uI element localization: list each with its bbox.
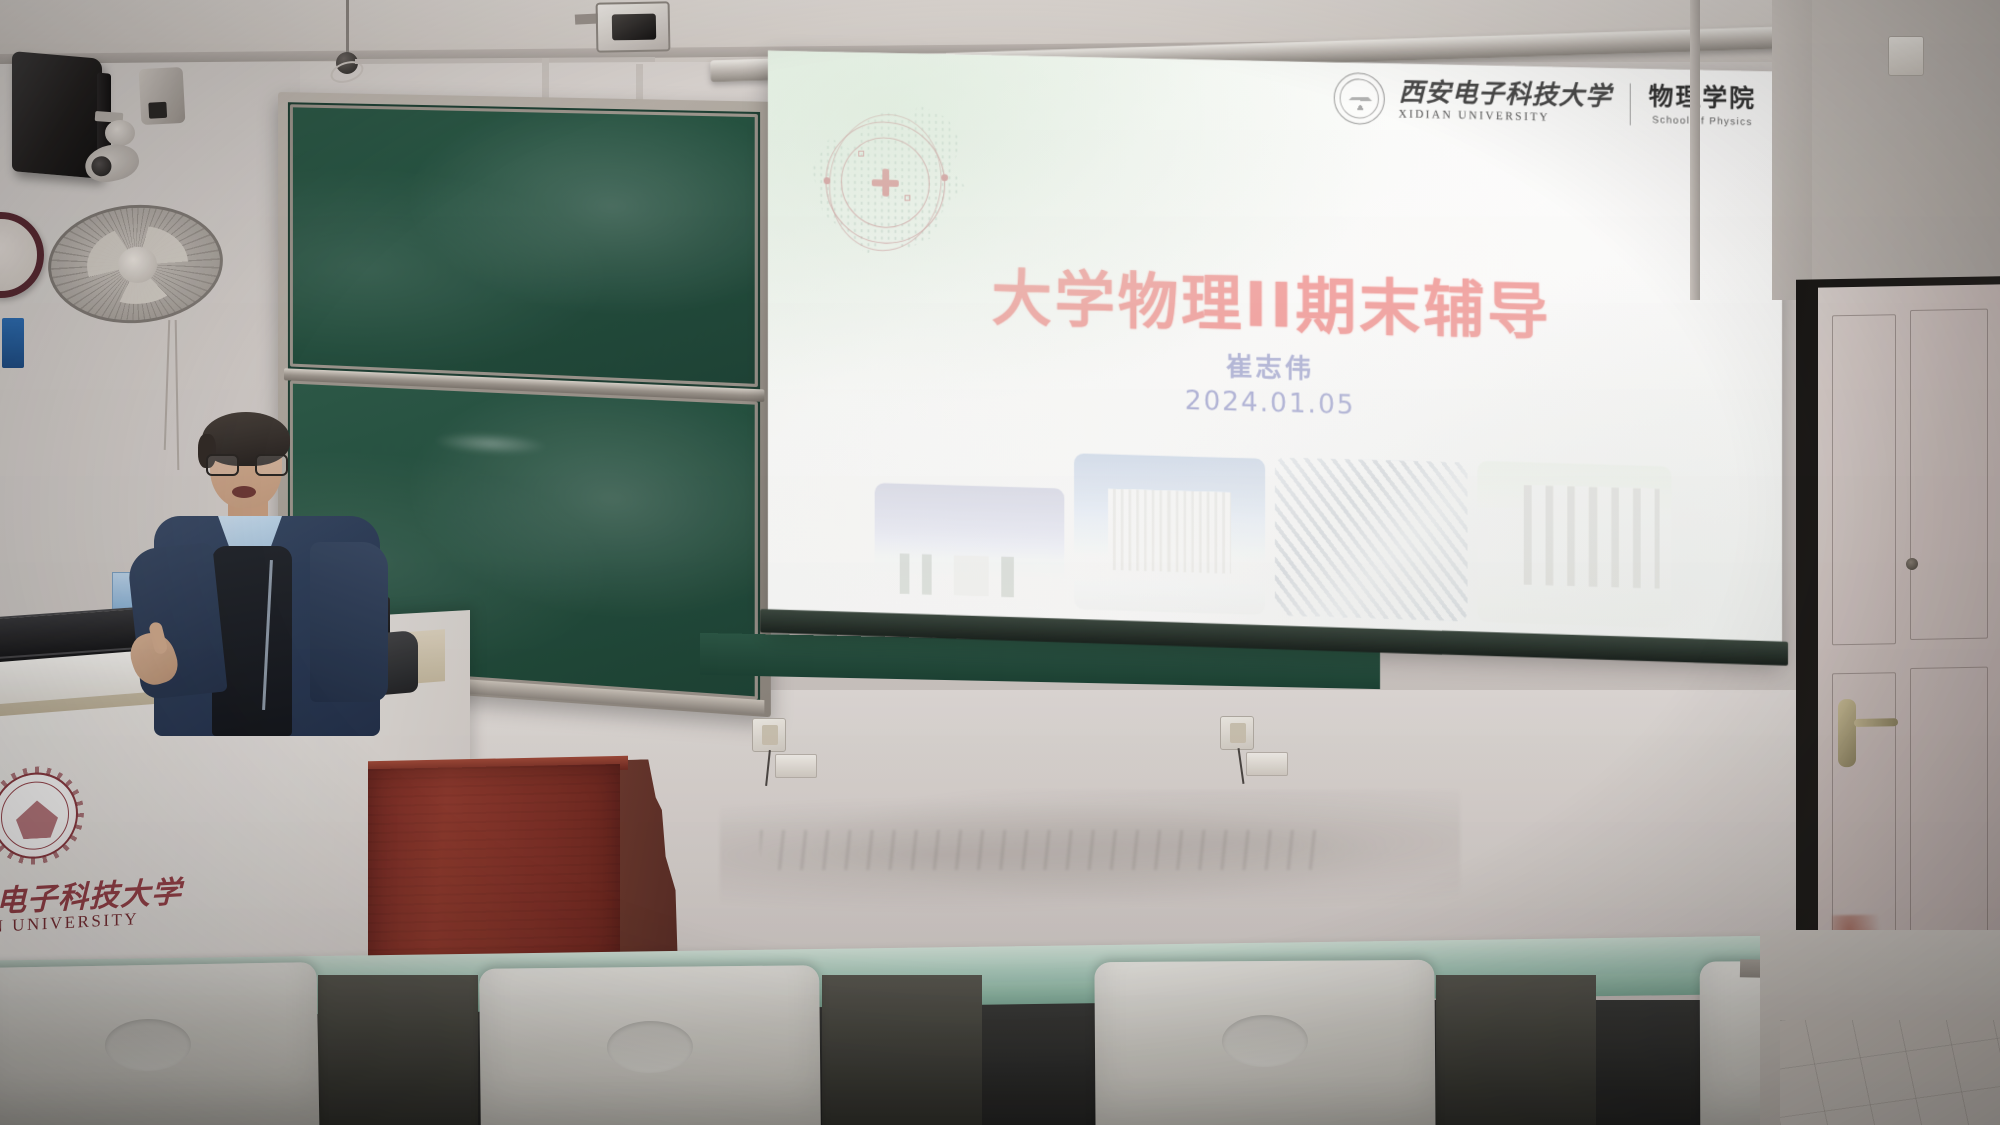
department-entrance-photo: [1477, 461, 1671, 628]
lecture-hall-seat: [479, 965, 821, 1125]
lecture-hall-scene: 西安电子科技大学 XIDIAN UNIVERSITY 物理学院 School o…: [0, 0, 2000, 1125]
wall-scuff-marks: [760, 830, 1320, 870]
electron-left: [824, 177, 831, 184]
electron-box-lower: [905, 195, 911, 201]
door-panel: [1910, 667, 1988, 958]
wall-sensor-icon: [105, 120, 135, 146]
seat-gap: [318, 975, 478, 1125]
door-lever[interactable]: [1854, 718, 1898, 727]
glasses-right-lens: [255, 454, 288, 476]
door-handle[interactable]: [1838, 699, 1856, 767]
podium-branding: 西安电子科技大学 XIDIAN UNIVERSITY: [0, 756, 200, 948]
university-seal-icon: [1334, 72, 1385, 125]
plus-nucleus-icon: [872, 169, 899, 197]
wall-outlet: [1220, 716, 1254, 750]
junction-box: [775, 754, 817, 778]
light-switch[interactable]: [1888, 36, 1924, 76]
lecturer-figure: [140, 420, 390, 720]
lecture-hall-seat: [1094, 960, 1435, 1125]
door-panel: [1832, 314, 1896, 645]
department-name-en: School of Physics: [1649, 114, 1756, 127]
lecturer-left-arm: [126, 542, 227, 700]
chalkboard-panel-top: [290, 104, 758, 387]
floor-tiles: [1780, 1020, 2000, 1125]
cabinet-front-panel: [368, 764, 620, 977]
seal-scallop-ring: [0, 764, 84, 867]
fan-mount-arm: [139, 67, 186, 125]
main-building-photo: [1074, 453, 1265, 615]
electron-box-upper: [858, 151, 864, 157]
glasses-icon: [206, 454, 288, 476]
wall-outlet: [752, 718, 786, 752]
slide-content: 西安电子科技大学 XIDIAN UNIVERSITY 物理学院 School o…: [768, 50, 1782, 657]
ceiling-speaker-box: [596, 1, 671, 52]
projection-screen: 西安电子科技大学 XIDIAN UNIVERSITY 物理学院 School o…: [739, 22, 1806, 682]
projected-slide: 西安电子科技大学 XIDIAN UNIVERSITY 物理学院 School o…: [768, 50, 1782, 657]
right-wall-strip: [1772, 0, 1812, 300]
wall-pipe: [1690, 0, 1700, 300]
door-panel: [1910, 309, 1988, 640]
department-name-cn: 物理学院: [1649, 84, 1756, 111]
university-name-en: XIDIAN UNIVERSITY: [1399, 108, 1612, 125]
university-name-block: 西安电子科技大学 XIDIAN UNIVERSITY: [1399, 79, 1612, 124]
seat-gap: [822, 975, 982, 1125]
lecturer-sweater: [212, 546, 292, 736]
wooden-cabinet: [368, 753, 676, 977]
electron-right: [941, 174, 948, 181]
vertical-divider-icon: [1630, 83, 1631, 125]
wall-mounted-fan-icon: [44, 199, 227, 329]
department-name-block: 物理学院 School of Physics: [1649, 84, 1756, 127]
modern-architecture-photo: [1275, 457, 1468, 621]
blue-wall-sign: [2, 318, 24, 368]
classroom-door[interactable]: [1818, 284, 2000, 987]
campus-plaza-photo: [875, 483, 1065, 609]
junction-box: [1246, 752, 1288, 776]
seat-gap: [1436, 975, 1596, 1125]
glasses-bridge: [239, 463, 255, 465]
glasses-left-lens: [206, 454, 239, 476]
campus-photo-strip: [768, 443, 1782, 632]
lecturer-right-arm: [310, 542, 388, 702]
cabinet-side-panel: [616, 759, 678, 972]
lecturer-mouth: [232, 486, 256, 498]
university-name-cn: 西安电子科技大学: [1399, 79, 1612, 109]
lecture-hall-seat: [0, 962, 319, 1125]
